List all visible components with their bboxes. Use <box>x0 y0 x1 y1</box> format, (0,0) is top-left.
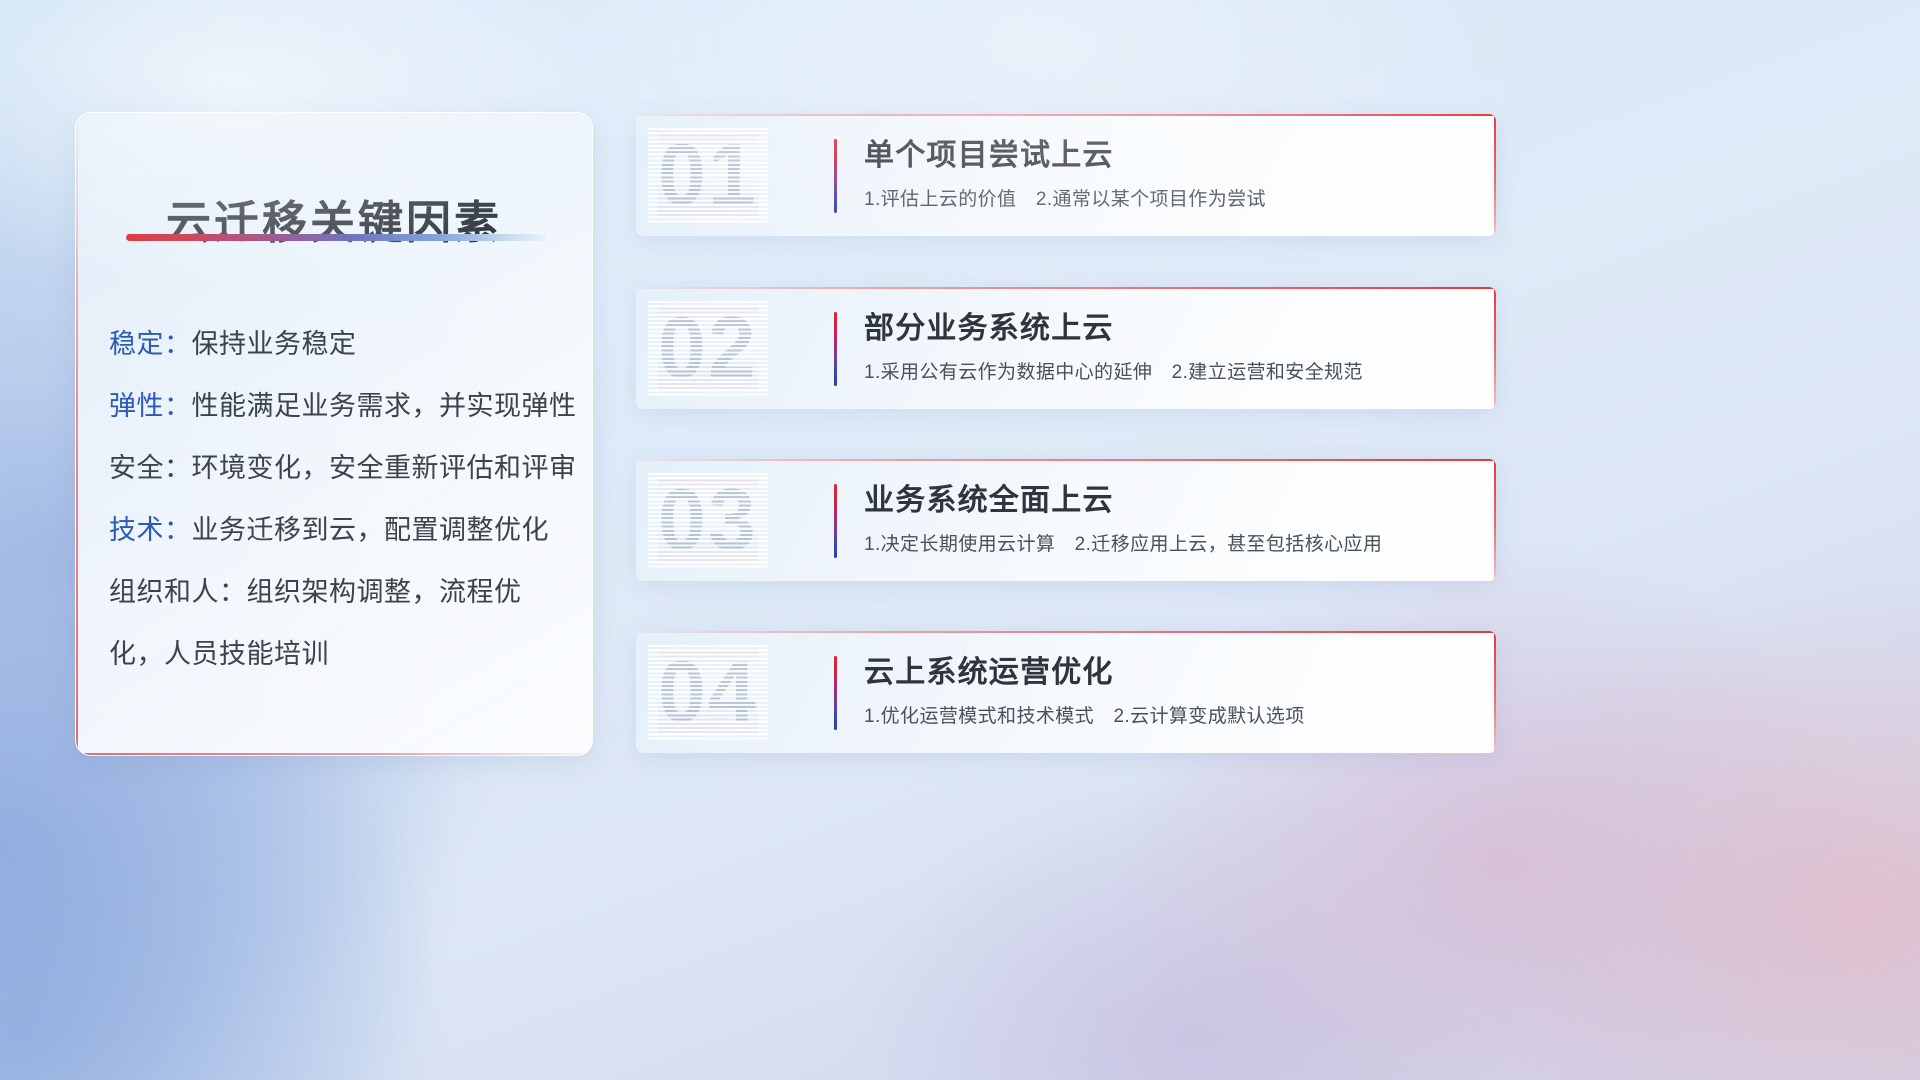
step-card-02[interactable]: 02 部分业务系统上云 1.采用公有云作为数据中心的延伸 2.建立运营和安全规范 <box>636 287 1496 409</box>
factor-label: 安全： <box>109 453 192 483</box>
step-title: 云上系统运营优化 <box>864 653 1476 693</box>
step-number-text: 02 <box>658 300 758 396</box>
key-factors-card: 云迁移关键因素 稳定：保持业务稳定 弹性：性能满足业务需求，并实现弹性 安全：环… <box>75 112 593 756</box>
step-number-text: 01 <box>658 127 758 223</box>
factor-text: 业务迁移到云，配置调整优化 <box>192 515 550 545</box>
list-item: 组织和人：组织架构调整，流程优化，人员技能培训 <box>109 561 572 685</box>
step-title: 单个项目尝试上云 <box>864 136 1476 176</box>
list-item: 技术：业务迁移到云，配置调整优化 <box>109 499 572 561</box>
step-number-text: 04 <box>658 644 758 740</box>
factor-label: 组织和人： <box>109 577 247 607</box>
step-number-04: 04 <box>658 649 758 735</box>
step-description: 1.评估上云的价值 2.通常以某个项目作为尝试 <box>864 187 1476 213</box>
factor-text: 环境变化，安全重新评估和评审 <box>192 453 577 483</box>
step-title: 业务系统全面上云 <box>864 481 1476 521</box>
factor-label: 弹性： <box>109 391 192 421</box>
page-title: 云迁移关键因素 <box>166 186 502 251</box>
list-item: 弹性：性能满足业务需求，并实现弹性 <box>109 375 572 437</box>
step-card-03[interactable]: 03 业务系统全面上云 1.决定长期使用云计算 2.迁移应用上云，甚至包括核心应… <box>636 459 1496 581</box>
step-divider-icon <box>834 656 837 730</box>
step-title: 部分业务系统上云 <box>864 309 1476 349</box>
list-item: 安全：环境变化，安全重新评估和评审 <box>109 437 572 499</box>
step-number-01: 01 <box>658 132 758 218</box>
step-divider-icon <box>834 139 837 213</box>
step-body: 云上系统运营优化 1.优化运营模式和技术模式 2.云计算变成默认选项 <box>864 653 1476 730</box>
factor-text: 保持业务稳定 <box>192 329 357 359</box>
step-card-01[interactable]: 01 单个项目尝试上云 1.评估上云的价值 2.通常以某个项目作为尝试 <box>636 114 1496 236</box>
factor-list: 稳定：保持业务稳定 弹性：性能满足业务需求，并实现弹性 安全：环境变化，安全重新… <box>109 313 572 685</box>
title-underline-gradient <box>126 234 546 241</box>
step-divider-icon <box>834 312 837 386</box>
step-divider-icon <box>834 484 837 558</box>
step-number-03: 03 <box>658 477 758 563</box>
step-card-04[interactable]: 04 云上系统运营优化 1.优化运营模式和技术模式 2.云计算变成默认选项 <box>636 631 1496 753</box>
step-number-02: 02 <box>658 305 758 391</box>
step-body: 单个项目尝试上云 1.评估上云的价值 2.通常以某个项目作为尝试 <box>864 136 1476 213</box>
step-body: 业务系统全面上云 1.决定长期使用云计算 2.迁移应用上云，甚至包括核心应用 <box>864 481 1476 558</box>
factor-label: 稳定： <box>109 329 192 359</box>
list-item: 稳定：保持业务稳定 <box>109 313 572 375</box>
step-description: 1.优化运营模式和技术模式 2.云计算变成默认选项 <box>864 704 1476 730</box>
step-description: 1.采用公有云作为数据中心的延伸 2.建立运营和安全规范 <box>864 360 1476 386</box>
step-description: 1.决定长期使用云计算 2.迁移应用上云，甚至包括核心应用 <box>864 532 1476 558</box>
step-body: 部分业务系统上云 1.采用公有云作为数据中心的延伸 2.建立运营和安全规范 <box>864 309 1476 386</box>
step-number-text: 03 <box>658 472 758 568</box>
factor-text: 性能满足业务需求，并实现弹性 <box>192 391 577 421</box>
slide-canvas: 云迁移关键因素 稳定：保持业务稳定 弹性：性能满足业务需求，并实现弹性 安全：环… <box>0 0 1920 1080</box>
factor-label: 技术： <box>109 515 192 545</box>
